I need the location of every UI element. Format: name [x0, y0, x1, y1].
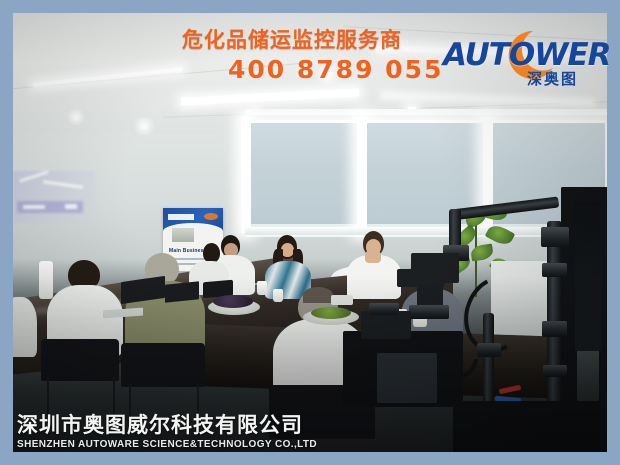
pipe-flange	[542, 263, 567, 277]
valve-cap	[397, 269, 419, 287]
company-block: 深圳市奥图威尔科技有限公司 SHENZHEN AUTOWARE SCIENCE&…	[17, 413, 317, 451]
head	[203, 243, 220, 263]
hands	[365, 251, 381, 263]
rig-back-panel	[575, 201, 601, 351]
rig-frame-top	[561, 187, 607, 201]
window-wall	[245, 109, 607, 237]
downlight-glow	[131, 117, 157, 135]
chair	[121, 343, 205, 387]
hair	[303, 287, 333, 303]
green-fruit	[311, 307, 351, 319]
window-light-gap	[241, 117, 250, 233]
headline-text: 危化品储运监控服务商	[182, 30, 402, 51]
phone-number: 400 8789 055	[228, 57, 443, 83]
projected-slide	[13, 171, 95, 223]
company-name-cn: 深圳市奥图威尔科技有限公司	[17, 413, 317, 437]
water-bottle	[39, 261, 53, 299]
pipe-flange	[542, 321, 567, 337]
window-head-rail	[245, 115, 607, 120]
rig-base	[453, 401, 607, 452]
window-light-gap	[357, 117, 366, 233]
laptop	[165, 281, 199, 303]
grapes	[213, 295, 253, 308]
logo-chinese-name: 深奥图	[527, 72, 578, 87]
company-name-en: SHENZHEN AUTOWARE SCIENCE&TECHNOLOGY CO.…	[17, 439, 317, 451]
machine-head	[361, 311, 411, 339]
torso	[13, 297, 37, 357]
machine-flange	[369, 303, 399, 315]
paper-cup	[257, 281, 267, 295]
background-box	[377, 353, 437, 403]
banner-title: Main Business	[169, 248, 207, 254]
roller-blind	[251, 123, 357, 227]
vertical-pipe	[547, 221, 562, 417]
banner-image	[172, 228, 194, 242]
pipe-flange	[541, 227, 569, 247]
pipe-flange	[543, 365, 567, 377]
chair	[41, 339, 119, 381]
pipe-flange	[477, 343, 501, 357]
autower-logo: AUTOWER 深奥图	[443, 30, 603, 90]
image-frame: Main Business	[0, 0, 620, 465]
downlight-glow	[65, 109, 87, 125]
papers	[331, 295, 353, 305]
paper-cup	[273, 289, 283, 302]
logo-wordmark: AUTOWER	[443, 40, 611, 71]
